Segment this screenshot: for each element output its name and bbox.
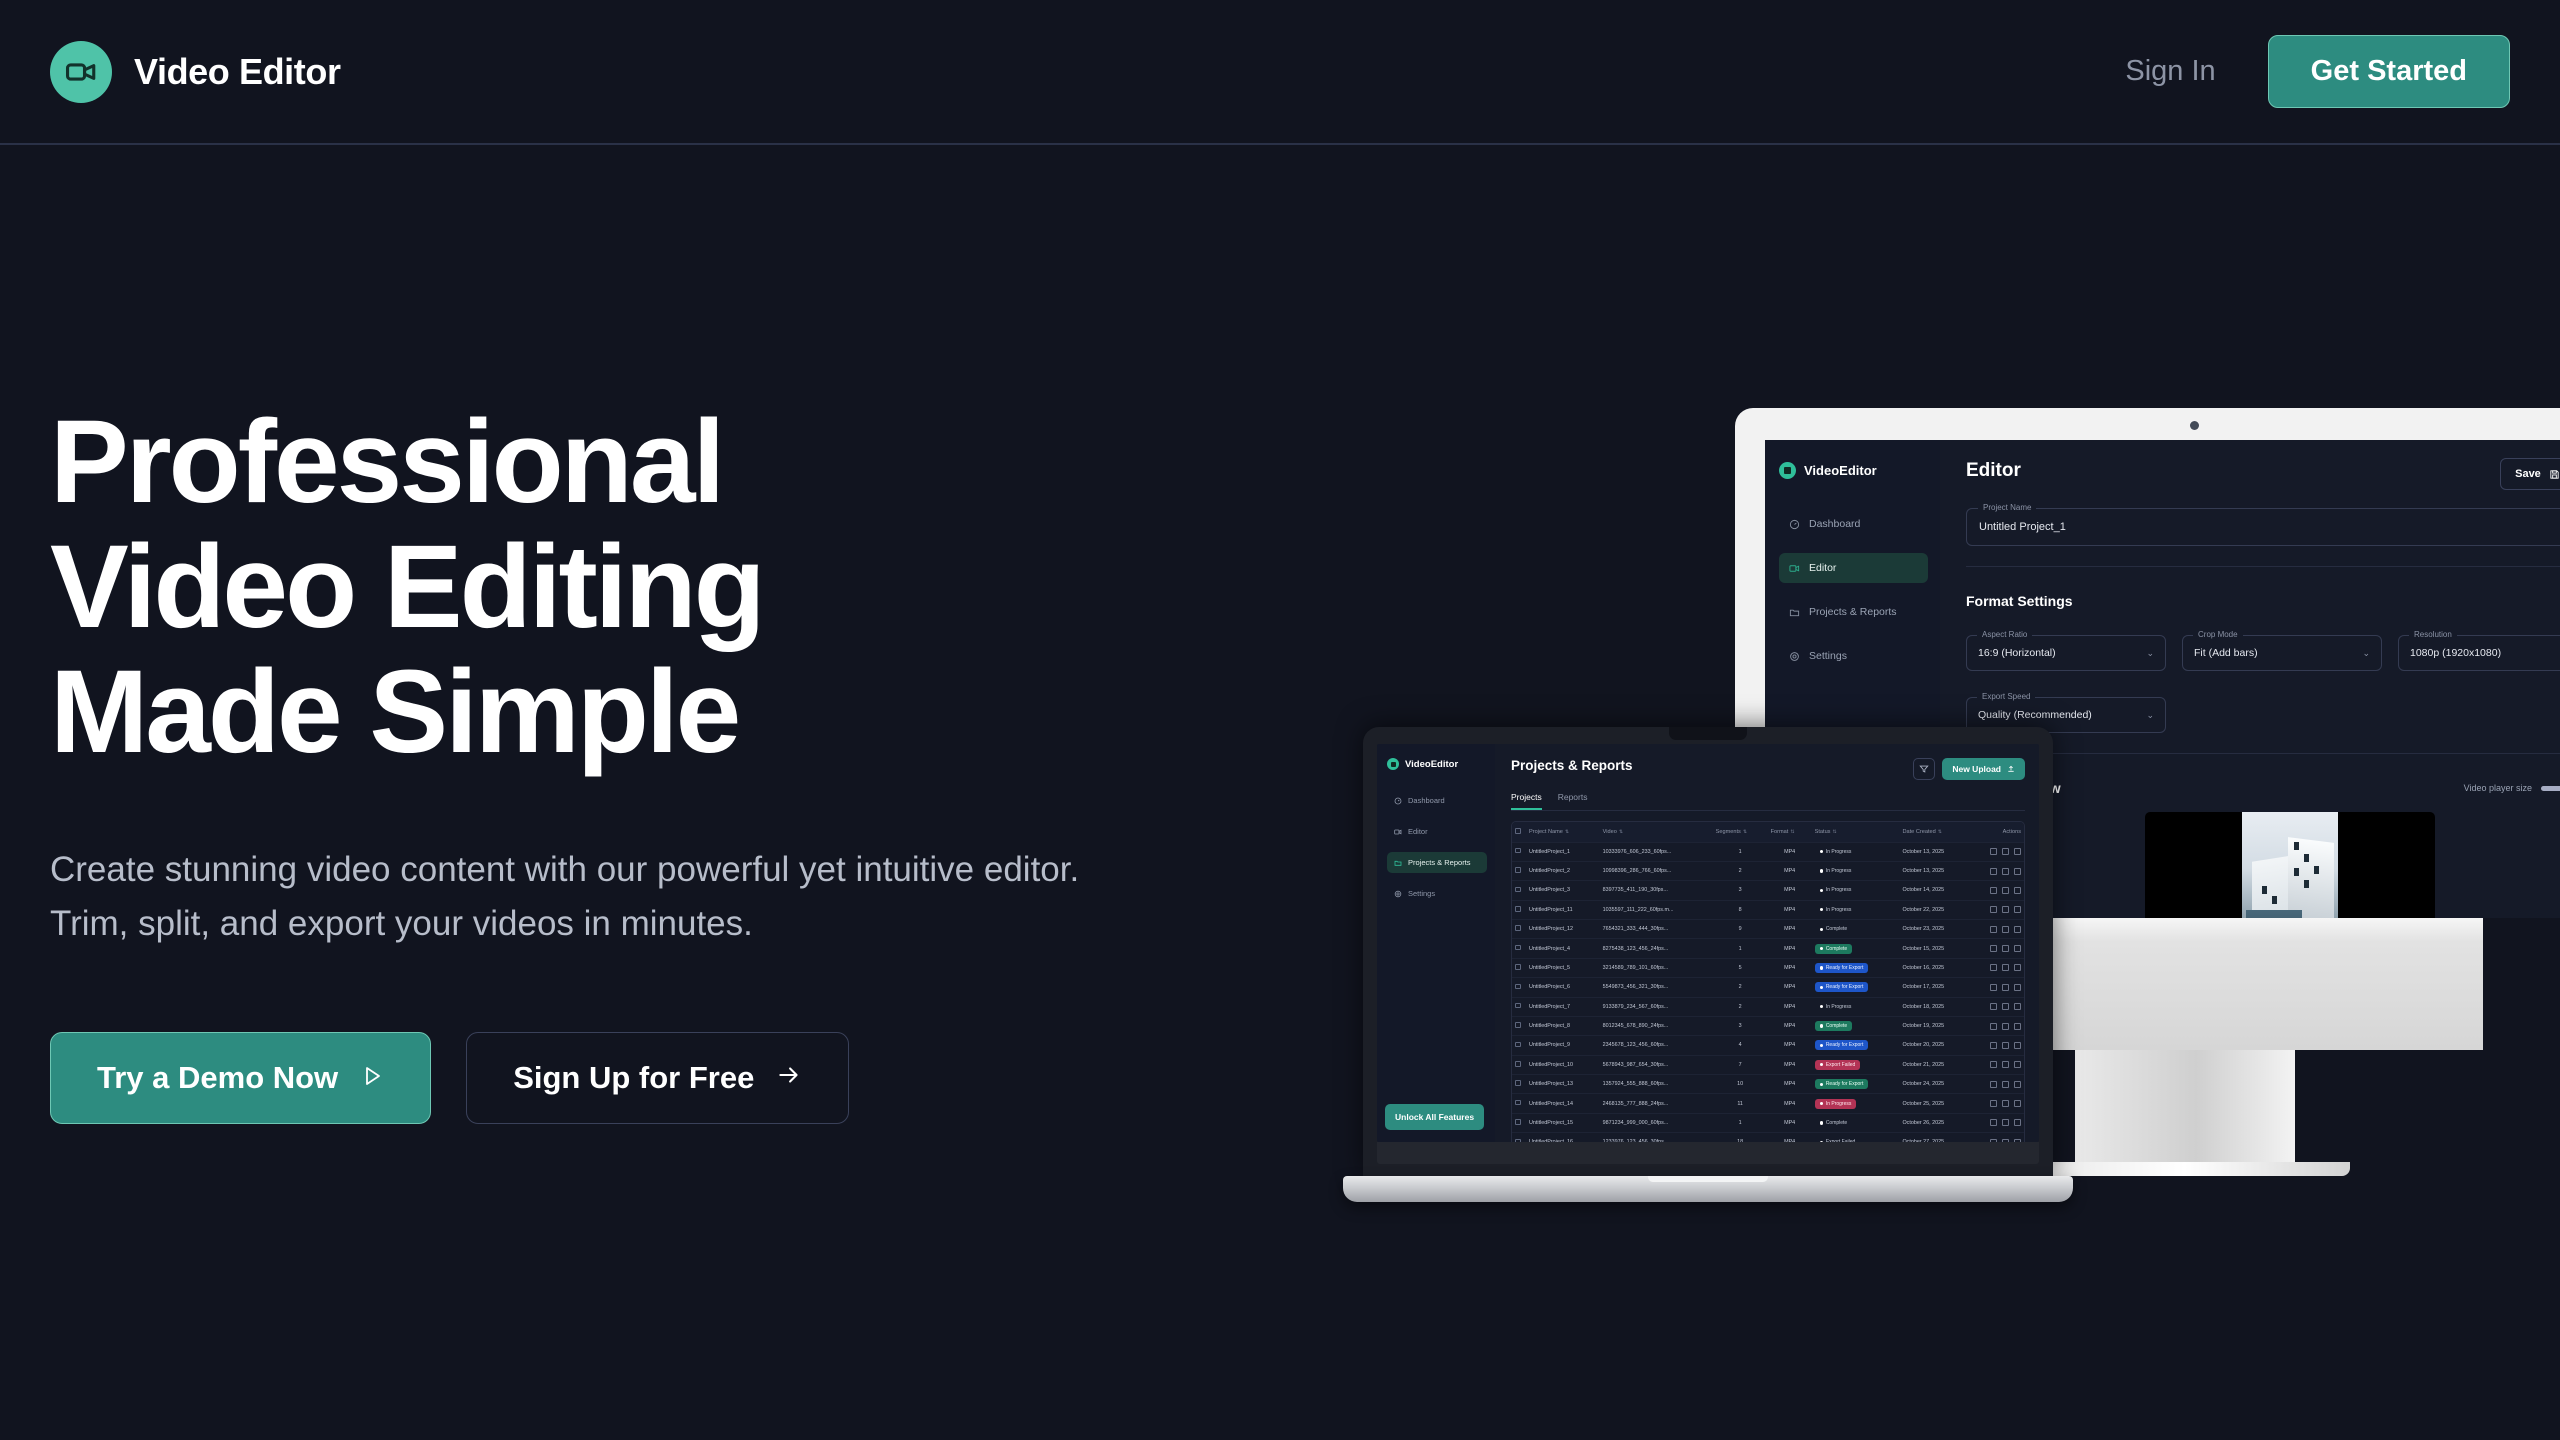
- cell-date-created: October 13, 2025: [1899, 842, 1969, 861]
- aspect-ratio-select[interactable]: Aspect Ratio 16:9 (Horizontal) ⌄: [1966, 635, 2166, 671]
- cell-segments: 1: [1713, 842, 1768, 861]
- video-player-size-slider[interactable]: [2541, 786, 2560, 791]
- sidebar-label: Editor: [1408, 827, 1428, 836]
- tab-projects[interactable]: Projects: [1511, 792, 1542, 810]
- save-label: Save: [2515, 468, 2541, 480]
- sidebar-item-settings[interactable]: Settings: [1387, 883, 1487, 904]
- row-checkbox[interactable]: [1512, 1094, 1526, 1113]
- edit-icon[interactable]: [1990, 964, 1997, 971]
- sidebar-label: Settings: [1809, 650, 1847, 662]
- cell-status: Ready for Export: [1812, 958, 1900, 977]
- edit-icon[interactable]: [1990, 848, 1997, 855]
- sidebar-item-editor[interactable]: Editor: [1387, 821, 1487, 842]
- app-logo-label: VideoEditor: [1804, 463, 1877, 478]
- aspect-ratio-value: 16:9 (Horizontal): [1978, 647, 2056, 659]
- cell-video: 7654321_333_444_30fps...: [1600, 920, 1713, 939]
- download-icon[interactable]: [2002, 945, 2009, 952]
- laptop-chin: [1377, 1142, 2039, 1164]
- cell-date-created: October 25, 2025: [1899, 1094, 1969, 1113]
- download-icon[interactable]: [2002, 1023, 2009, 1030]
- row-checkbox[interactable]: [1512, 881, 1526, 900]
- cell-video: 1233976_123_456_30fps...: [1600, 1133, 1713, 1142]
- download-icon[interactable]: [2002, 1042, 2009, 1049]
- table-row[interactable]: UntitledProject_131357924_555_888_60fps.…: [1512, 1075, 2024, 1094]
- table-row[interactable]: UntitledProject_79133879_234_567_60fps..…: [1512, 997, 2024, 1016]
- cell-date-created: October 21, 2025: [1899, 1055, 1969, 1074]
- trash-icon[interactable]: [2014, 926, 2021, 933]
- edit-icon[interactable]: [1990, 1100, 1997, 1107]
- row-checkbox[interactable]: [1512, 1113, 1526, 1132]
- edit-icon[interactable]: [1990, 1061, 1997, 1068]
- projects-header: Projects & Reports New Upload: [1511, 758, 2025, 780]
- monitor-stand-neck: [2075, 1050, 2295, 1162]
- table-row[interactable]: UntitledProject_48275438_123_456_24fps..…: [1512, 939, 2024, 958]
- gauge-icon: [1394, 797, 1402, 805]
- cell-status: In Progress: [1812, 842, 1900, 861]
- cell-status: In Progress: [1812, 1094, 1900, 1113]
- divider: [1966, 566, 2560, 567]
- cell-actions: [1970, 1055, 2024, 1074]
- cell-date-created: October 24, 2025: [1899, 1075, 1969, 1094]
- sign-in-link[interactable]: Sign In: [2125, 55, 2215, 88]
- cell-actions: [1970, 861, 2024, 880]
- try-demo-label: Try a Demo Now: [97, 1060, 338, 1096]
- cell-project-name: UntitledProject_15: [1526, 1113, 1600, 1132]
- hero-cta-row: Try a Demo Now Sign Up for Free: [50, 1032, 1230, 1124]
- app-logo: VideoEditor: [1387, 758, 1487, 770]
- cell-date-created: October 18, 2025: [1899, 997, 1969, 1016]
- cell-status: In Progress: [1812, 900, 1900, 919]
- cell-project-name: UntitledProject_12: [1526, 920, 1600, 939]
- edit-icon[interactable]: [1990, 1023, 1997, 1030]
- cell-video: 2345678_123_456_60fps...: [1600, 1036, 1713, 1055]
- cell-actions: [1970, 1075, 2024, 1094]
- download-icon[interactable]: [2002, 984, 2009, 991]
- laptop-lid: VideoEditor Dashboard Editor Projects & …: [1363, 727, 2053, 1176]
- column-video[interactable]: Video⇅: [1600, 822, 1713, 842]
- edit-icon[interactable]: [1990, 887, 1997, 894]
- row-checkbox[interactable]: [1512, 1016, 1526, 1035]
- save-button[interactable]: Save: [2500, 458, 2560, 490]
- column-segments[interactable]: Segments⇅: [1713, 822, 1768, 842]
- download-icon[interactable]: [2002, 868, 2009, 875]
- cell-format: MP4: [1768, 1075, 1812, 1094]
- gauge-icon: [1789, 519, 1800, 530]
- status-badge: Ready for Export: [1815, 963, 1869, 973]
- site-header: Video Editor Sign In Get Started: [0, 0, 2560, 145]
- table-row[interactable]: UntitledProject_210998396_286_766_60fps.…: [1512, 861, 2024, 880]
- cell-segments: 3: [1713, 881, 1768, 900]
- projects-tabs: Projects Reports: [1511, 792, 2025, 811]
- chevron-down-icon: ⌄: [2146, 710, 2154, 721]
- table-row[interactable]: UntitledProject_111035597_111_222_60fps.…: [1512, 900, 2024, 919]
- try-demo-button[interactable]: Try a Demo Now: [50, 1032, 431, 1124]
- page-title: Professional Video Editing Made Simple: [50, 400, 1230, 775]
- edit-icon[interactable]: [1990, 1081, 1997, 1088]
- cell-video: 9133879_234_567_60fps...: [1600, 997, 1713, 1016]
- table-row[interactable]: UntitledProject_161233976_123_456_30fps.…: [1512, 1133, 2024, 1142]
- sidebar-item-projects-reports[interactable]: Projects & Reports: [1779, 597, 1928, 627]
- status-badge: Ready for Export: [1815, 982, 1869, 992]
- cell-project-name: UntitledProject_5: [1526, 958, 1600, 977]
- cell-segments: 18: [1713, 1133, 1768, 1142]
- row-checkbox[interactable]: [1512, 958, 1526, 977]
- cell-actions: [1970, 1113, 2024, 1132]
- format-settings-title: Format Settings: [1966, 593, 2560, 609]
- cell-actions: [1970, 1016, 2024, 1035]
- cell-format: MP4: [1768, 920, 1812, 939]
- cell-status: Export Failed: [1812, 1055, 1900, 1074]
- download-icon[interactable]: [2002, 1139, 2009, 1142]
- cell-video: 8012345_678_890_24fps...: [1600, 1016, 1713, 1035]
- trash-icon[interactable]: [2014, 1023, 2021, 1030]
- cell-format: MP4: [1768, 997, 1812, 1016]
- table-body: UntitledProject_110333976_606_233_60fps.…: [1512, 842, 2024, 1142]
- video-camera-icon: [1387, 758, 1399, 770]
- cell-segments: 1: [1713, 1113, 1768, 1132]
- cell-actions: [1970, 920, 2024, 939]
- cell-project-name: UntitledProject_9: [1526, 1036, 1600, 1055]
- cell-date-created: October 26, 2025: [1899, 1113, 1969, 1132]
- cell-status: In Progress: [1812, 997, 1900, 1016]
- cell-status: Complete: [1812, 920, 1900, 939]
- row-checkbox[interactable]: [1512, 900, 1526, 919]
- download-icon[interactable]: [2002, 906, 2009, 913]
- trash-icon[interactable]: [2014, 1100, 2021, 1107]
- webcam-icon: [2190, 421, 2199, 430]
- table-header-row: Project Name⇅ Video⇅ Segments⇅ Format⇅ S…: [1512, 822, 2024, 842]
- column-format[interactable]: Format⇅: [1768, 822, 1812, 842]
- format-settings-row-1: Aspect Ratio 16:9 (Horizontal) ⌄ Crop Mo…: [1966, 613, 2560, 671]
- cell-date-created: October 17, 2025: [1899, 978, 1969, 997]
- cell-project-name: UntitledProject_14: [1526, 1094, 1600, 1113]
- cell-date-created: October 27, 2025: [1899, 1133, 1969, 1142]
- edit-icon[interactable]: [1990, 868, 1997, 875]
- laptop-notch: [1669, 727, 1747, 740]
- row-checkbox[interactable]: [1512, 997, 1526, 1016]
- cell-segments: 4: [1713, 1036, 1768, 1055]
- cell-date-created: October 23, 2025: [1899, 920, 1969, 939]
- column-status[interactable]: Status⇅: [1812, 822, 1900, 842]
- cell-status: Ready for Export: [1812, 1075, 1900, 1094]
- app-logo: VideoEditor: [1779, 462, 1928, 479]
- status-badge: Complete: [1815, 1021, 1853, 1031]
- edit-icon[interactable]: [1990, 1119, 1997, 1126]
- trash-icon[interactable]: [2014, 1081, 2021, 1088]
- cell-actions: [1970, 1094, 2024, 1113]
- download-icon[interactable]: [2002, 1003, 2009, 1010]
- gear-icon: [1394, 890, 1402, 898]
- cell-video: 1035597_111_222_60fps.m...: [1600, 900, 1713, 919]
- trash-icon[interactable]: [2014, 945, 2021, 952]
- row-checkbox[interactable]: [1512, 1036, 1526, 1055]
- cell-project-name: UntitledProject_3: [1526, 881, 1600, 900]
- project-name-label: Project Name: [1978, 503, 2036, 512]
- column-date-created[interactable]: Date Created⇅: [1899, 822, 1969, 842]
- cell-segments: 8: [1713, 900, 1768, 919]
- sidebar-label: Projects & Reports: [1408, 858, 1471, 867]
- column-project-name[interactable]: Project Name⇅: [1526, 822, 1600, 842]
- cell-video: 3214589_789_101_60fps...: [1600, 958, 1713, 977]
- edit-icon[interactable]: [1990, 1139, 1997, 1142]
- chevron-down-icon: ⌄: [2362, 648, 2370, 659]
- column-actions: Actions: [1970, 822, 2024, 842]
- table-row[interactable]: UntitledProject_105678943_987_654_30fps.…: [1512, 1055, 2024, 1074]
- row-checkbox[interactable]: [1512, 861, 1526, 880]
- video-player-size-control[interactable]: Video player size: [2464, 783, 2560, 793]
- cell-format: MP4: [1768, 1016, 1812, 1035]
- cell-segments: 5: [1713, 958, 1768, 977]
- cell-status: In Progress: [1812, 881, 1900, 900]
- edit-icon[interactable]: [1990, 926, 1997, 933]
- cell-actions: [1970, 1036, 2024, 1055]
- download-icon[interactable]: [2002, 1100, 2009, 1107]
- cell-status: Complete: [1812, 1113, 1900, 1132]
- resolution-label: Resolution: [2409, 630, 2457, 639]
- cell-date-created: October 14, 2025: [1899, 881, 1969, 900]
- edit-icon[interactable]: [1990, 984, 1997, 991]
- cell-project-name: UntitledProject_7: [1526, 997, 1600, 1016]
- row-checkbox[interactable]: [1512, 1075, 1526, 1094]
- cell-date-created: October 22, 2025: [1899, 900, 1969, 919]
- table-row[interactable]: UntitledProject_127654321_333_444_30fps.…: [1512, 920, 2024, 939]
- cell-segments: 2: [1713, 978, 1768, 997]
- cell-segments: 3: [1713, 1016, 1768, 1035]
- crop-mode-select[interactable]: Crop Mode Fit (Add bars) ⌄: [2182, 635, 2382, 671]
- download-icon[interactable]: [2002, 887, 2009, 894]
- sidebar-item-settings[interactable]: Settings: [1779, 641, 1928, 671]
- sidebar-label: Settings: [1408, 889, 1435, 898]
- table-row[interactable]: UntitledProject_159871234_999_000_60fps.…: [1512, 1113, 2024, 1132]
- get-started-button[interactable]: Get Started: [2268, 35, 2510, 108]
- sidebar-item-projects-reports[interactable]: Projects & Reports: [1387, 852, 1487, 873]
- table-row[interactable]: UntitledProject_65549873_456_321_30fps..…: [1512, 978, 2024, 997]
- video-preview-player[interactable]: [2145, 812, 2435, 918]
- hero-section: Professional Video Editing Made Simple C…: [50, 400, 1230, 1124]
- row-checkbox[interactable]: [1512, 842, 1526, 861]
- cell-status: Export Failed: [1812, 1133, 1900, 1142]
- cell-actions: [1970, 1133, 2024, 1142]
- cell-status: In Progress: [1812, 861, 1900, 880]
- laptop-screen: VideoEditor Dashboard Editor Projects & …: [1377, 744, 2039, 1142]
- cell-segments: 2: [1713, 997, 1768, 1016]
- status-badge: Ready for Export: [1815, 1079, 1869, 1089]
- cell-segments: 2: [1713, 861, 1768, 880]
- video-preview-header: Video Preview Video player size: [1966, 780, 2560, 796]
- status-badge: Complete: [1815, 944, 1853, 954]
- cell-project-name: UntitledProject_13: [1526, 1075, 1600, 1094]
- trash-icon[interactable]: [2014, 887, 2021, 894]
- sidebar-label: Dashboard: [1408, 796, 1445, 805]
- resolution-select[interactable]: Resolution 1080p (1920x1080) ⌄: [2398, 635, 2560, 671]
- column-select-all[interactable]: [1512, 822, 1526, 842]
- download-icon[interactable]: [2002, 964, 2009, 971]
- projects-table: Project Name⇅ Video⇅ Segments⇅ Format⇅ S…: [1511, 821, 2025, 1142]
- format-settings-row-2: Export Speed Quality (Recommended) ⌄: [1966, 675, 2560, 733]
- edit-icon[interactable]: [1990, 1003, 1997, 1010]
- cell-video: 5549873_456_321_30fps...: [1600, 978, 1713, 997]
- funnel-icon[interactable]: [1913, 758, 1935, 780]
- status-badge: Complete: [1815, 1118, 1853, 1128]
- gear-icon: [1789, 651, 1800, 662]
- video-player-size-label: Video player size: [2464, 783, 2532, 793]
- status-badge: Export Failed: [1815, 1060, 1861, 1070]
- table-row[interactable]: UntitledProject_88012345_678_890_24fps..…: [1512, 1016, 2024, 1035]
- cell-actions: [1970, 997, 2024, 1016]
- trash-icon[interactable]: [2014, 1119, 2021, 1126]
- sidebar-item-dashboard[interactable]: Dashboard: [1387, 790, 1487, 811]
- row-checkbox[interactable]: [1512, 939, 1526, 958]
- sidebar-item-editor[interactable]: Editor: [1779, 553, 1928, 583]
- projects-toolbar: New Upload: [1913, 758, 2025, 780]
- cell-video: 10998396_286_766_60fps...: [1600, 861, 1713, 880]
- cell-actions: [1970, 978, 2024, 997]
- editor-page-title: Editor: [1966, 460, 2560, 482]
- sidebar-label: Dashboard: [1809, 518, 1860, 530]
- cell-format: MP4: [1768, 900, 1812, 919]
- video-camera-icon: [50, 41, 112, 103]
- hero-title-line-3: Made Simple: [50, 646, 738, 778]
- cell-format: MP4: [1768, 1133, 1812, 1142]
- status-badge: In Progress: [1815, 905, 1857, 915]
- download-icon[interactable]: [2002, 1119, 2009, 1126]
- video-icon: [1394, 828, 1402, 836]
- cell-format: MP4: [1768, 939, 1812, 958]
- projects-main-panel: Projects & Reports New Upload: [1495, 744, 2039, 1142]
- row-checkbox[interactable]: [1512, 920, 1526, 939]
- cell-actions: [1970, 958, 2024, 977]
- sign-up-label: Sign Up for Free: [513, 1060, 754, 1096]
- cell-format: MP4: [1768, 958, 1812, 977]
- trash-icon[interactable]: [2014, 984, 2021, 991]
- status-badge: In Progress: [1815, 885, 1857, 895]
- trash-icon[interactable]: [2014, 1061, 2021, 1068]
- status-badge: In Progress: [1815, 866, 1857, 876]
- landing-page: Video Editor Sign In Get Started Profess…: [0, 0, 2560, 1440]
- aspect-ratio-label: Aspect Ratio: [1977, 630, 2032, 639]
- trash-icon[interactable]: [2014, 1003, 2021, 1010]
- trash-icon[interactable]: [2014, 906, 2021, 913]
- floppy-disk-icon: [2549, 469, 2560, 480]
- divider: [1966, 753, 2560, 754]
- cell-status: Complete: [1812, 939, 1900, 958]
- row-checkbox[interactable]: [1512, 1133, 1526, 1142]
- export-speed-label: Export Speed: [1977, 692, 2035, 701]
- laptop-mockup: VideoEditor Dashboard Editor Projects & …: [1363, 727, 2053, 1202]
- trash-icon[interactable]: [2014, 848, 2021, 855]
- table-row[interactable]: UntitledProject_142468135_777_888_24fps.…: [1512, 1094, 2024, 1113]
- upload-icon: [2007, 765, 2015, 773]
- new-upload-button[interactable]: New Upload: [1942, 758, 2025, 780]
- folder-icon: [1394, 859, 1402, 867]
- cell-format: MP4: [1768, 861, 1812, 880]
- cell-date-created: October 16, 2025: [1899, 958, 1969, 977]
- download-icon[interactable]: [2002, 1081, 2009, 1088]
- table-row[interactable]: UntitledProject_110333976_606_233_60fps.…: [1512, 842, 2024, 861]
- folder-icon: [1789, 607, 1800, 618]
- projects-sidebar: VideoEditor Dashboard Editor Projects & …: [1377, 744, 1495, 1142]
- cell-actions: [1970, 881, 2024, 900]
- cell-project-name: UntitledProject_4: [1526, 939, 1600, 958]
- cell-segments: 9: [1713, 920, 1768, 939]
- brand-logo-group[interactable]: Video Editor: [50, 41, 341, 103]
- cell-segments: 1: [1713, 939, 1768, 958]
- trash-icon[interactable]: [2014, 868, 2021, 875]
- hero-subtitle: Create stunning video content with our p…: [50, 843, 1140, 952]
- sidebar-label: Projects & Reports: [1809, 606, 1897, 618]
- tab-reports[interactable]: Reports: [1558, 792, 1588, 810]
- sign-up-free-button[interactable]: Sign Up for Free: [466, 1032, 849, 1124]
- brand-name: Video Editor: [134, 51, 341, 93]
- cell-format: MP4: [1768, 1113, 1812, 1132]
- resolution-value: 1080p (1920x1080): [2410, 647, 2501, 659]
- edit-icon[interactable]: [1990, 906, 1997, 913]
- table-row[interactable]: UntitledProject_38397735_411_190_30fps..…: [1512, 881, 2024, 900]
- download-icon[interactable]: [2002, 848, 2009, 855]
- cell-video: 1357924_555_888_60fps...: [1600, 1075, 1713, 1094]
- laptop-base-deck: [1343, 1176, 2073, 1202]
- status-badge: In Progress: [1815, 1099, 1857, 1109]
- cell-format: MP4: [1768, 842, 1812, 861]
- status-badge: In Progress: [1815, 1002, 1857, 1012]
- cell-format: MP4: [1768, 978, 1812, 997]
- cell-date-created: October 19, 2025: [1899, 1016, 1969, 1035]
- sidebar-label: Editor: [1809, 562, 1836, 574]
- row-checkbox[interactable]: [1512, 978, 1526, 997]
- status-badge: Complete: [1815, 924, 1853, 934]
- cell-status: Complete: [1812, 1016, 1900, 1035]
- project-name-value: Untitled Project_1: [1979, 521, 2066, 533]
- crop-mode-label: Crop Mode: [2193, 630, 2243, 639]
- cell-project-name: UntitledProject_10: [1526, 1055, 1600, 1074]
- cell-format: MP4: [1768, 1036, 1812, 1055]
- hero-title-line-2: Video Editing: [50, 521, 763, 653]
- hero-title-line-1: Professional: [50, 396, 722, 528]
- cell-project-name: UntitledProject_11: [1526, 900, 1600, 919]
- cell-actions: [1970, 939, 2024, 958]
- row-checkbox[interactable]: [1512, 1055, 1526, 1074]
- table-row[interactable]: UntitledProject_92345678_123_456_60fps..…: [1512, 1036, 2024, 1055]
- table-row[interactable]: UntitledProject_53214589_789_101_60fps..…: [1512, 958, 2024, 977]
- cell-format: MP4: [1768, 881, 1812, 900]
- download-icon[interactable]: [2002, 926, 2009, 933]
- cell-video: 8397735_411_190_30fps...: [1600, 881, 1713, 900]
- cell-status: Ready for Export: [1812, 1036, 1900, 1055]
- cell-format: MP4: [1768, 1094, 1812, 1113]
- trash-icon[interactable]: [2014, 964, 2021, 971]
- cell-project-name: UntitledProject_1: [1526, 842, 1600, 861]
- sidebar-item-dashboard[interactable]: Dashboard: [1779, 509, 1928, 539]
- edit-icon[interactable]: [1990, 945, 1997, 952]
- arrow-right-icon: [776, 1060, 802, 1096]
- cell-video: 5678943_987_654_30fps...: [1600, 1055, 1713, 1074]
- cell-status: Ready for Export: [1812, 978, 1900, 997]
- cell-segments: 7: [1713, 1055, 1768, 1074]
- project-name-field[interactable]: Project Name Untitled Project_1: [1966, 508, 2560, 546]
- cell-project-name: UntitledProject_6: [1526, 978, 1600, 997]
- trash-icon[interactable]: [2014, 1042, 2021, 1049]
- trash-icon[interactable]: [2014, 1139, 2021, 1142]
- unlock-all-features-button[interactable]: Unlock All Features: [1385, 1104, 1484, 1130]
- edit-icon[interactable]: [1990, 1042, 1997, 1049]
- status-badge: Export Failed: [1815, 1137, 1861, 1142]
- download-icon[interactable]: [2002, 1061, 2009, 1068]
- video-thumbnail-building: [2242, 812, 2338, 918]
- projects-page-title: Projects & Reports: [1511, 758, 1633, 773]
- header-actions: Sign In Get Started: [2125, 35, 2510, 108]
- status-badge: Ready for Export: [1815, 1040, 1869, 1050]
- chevron-down-icon: ⌄: [2146, 648, 2154, 659]
